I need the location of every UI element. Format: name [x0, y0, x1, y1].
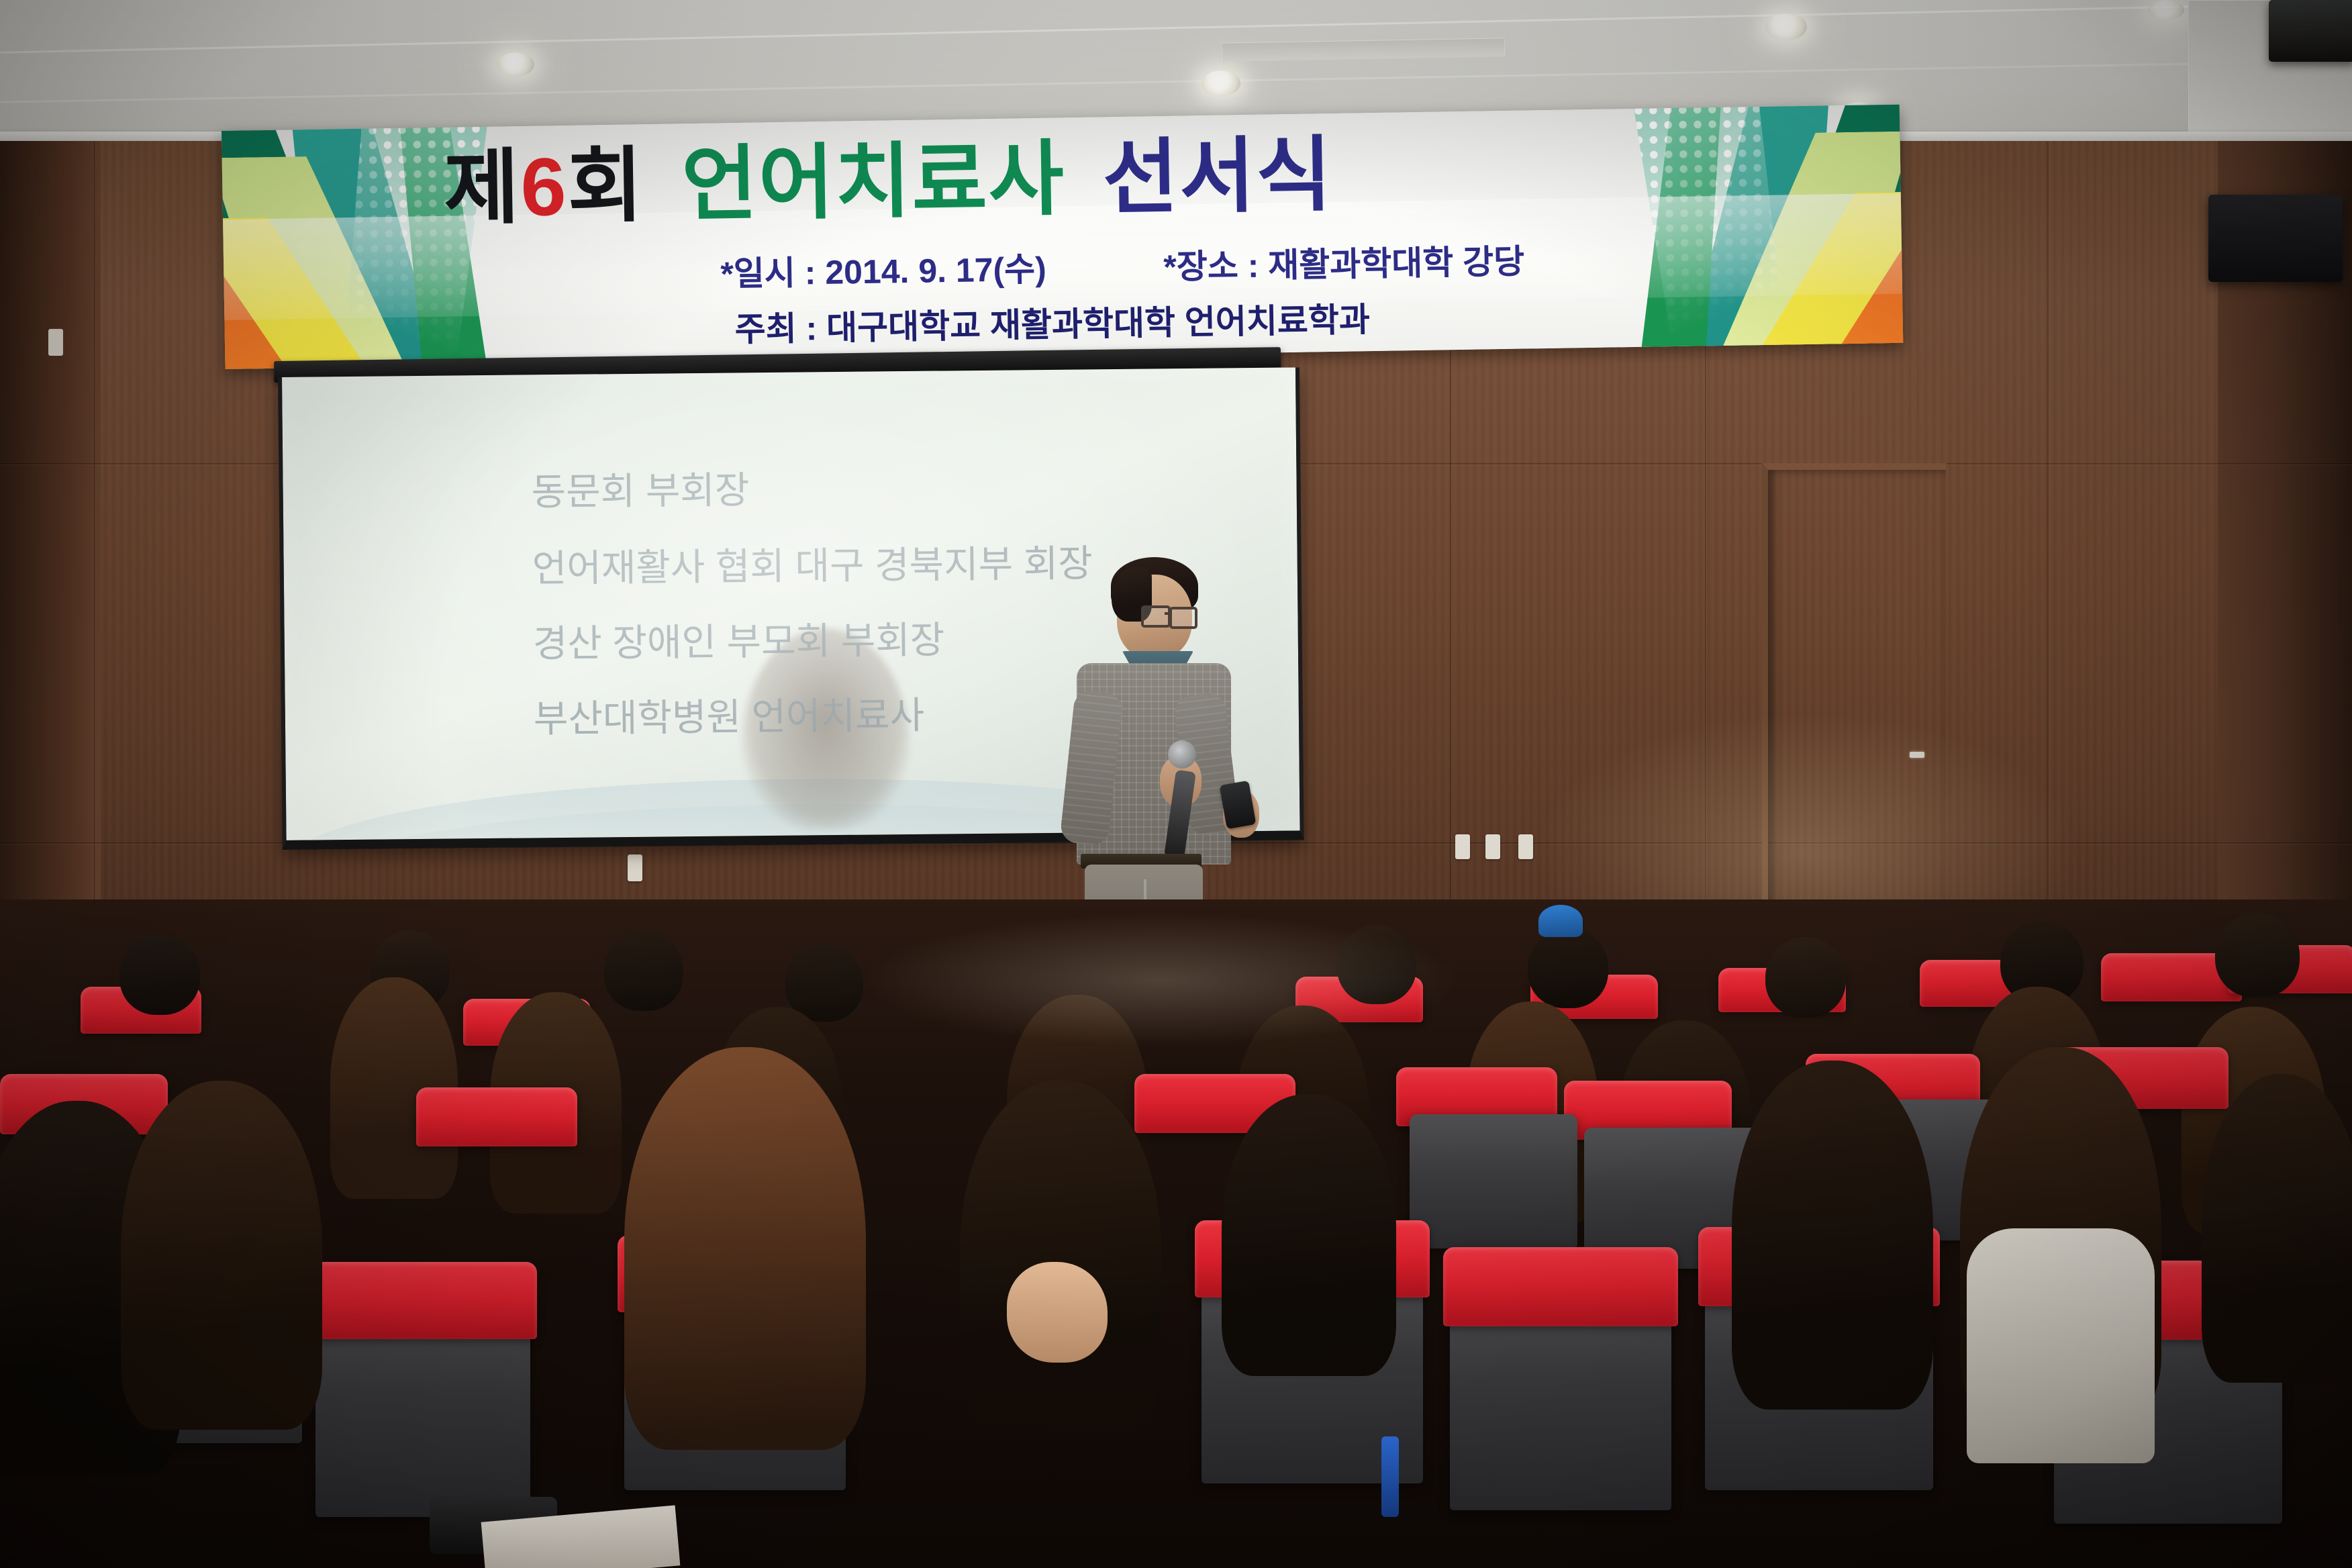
banner-title: 제6회언어치료사선서식 [443, 134, 1333, 230]
audience-foreground-head [121, 1081, 322, 1430]
audience-foreground-head [1222, 1094, 1396, 1376]
audience-head [1528, 928, 1608, 1008]
wall-plate-1[interactable] [1455, 834, 1470, 859]
audience-head [1765, 937, 1846, 1018]
audience-blue-pen [1381, 1436, 1399, 1517]
ceiling-projector [2269, 0, 2352, 62]
audience-foreground-head [624, 1047, 866, 1450]
wall-plate-4[interactable] [628, 854, 642, 881]
audience-white-top [1967, 1228, 2155, 1463]
banner-title-part-3: 회 [567, 140, 644, 232]
wall-left-shadow [0, 141, 101, 1027]
wall-switch-left[interactable] [48, 329, 63, 356]
banner-title-part-1: 제 [443, 142, 521, 234]
wall-seam-vertical [94, 141, 95, 1014]
wall-plate-2[interactable] [1485, 834, 1500, 859]
downlight-1 [497, 52, 534, 77]
seat-back[interactable] [1410, 1114, 1577, 1248]
audience-head [604, 932, 683, 1011]
audience-foreground-head [2202, 1074, 2352, 1383]
seat-top[interactable] [309, 1262, 537, 1339]
door-handle[interactable] [1910, 752, 1924, 758]
eyeglasses-left-lens [1141, 605, 1171, 628]
banner-host-line: 주최 : 대구대학교 재활과학대학 언어치료학과 [734, 293, 1370, 351]
wall-seam-vertical [2047, 141, 2049, 1014]
banner-date-line: *일시 : 2014. 9. 17(수) [720, 242, 1046, 296]
banner-title-part-4: 언어치료사 [681, 133, 1066, 230]
downlight-5 [2148, 0, 2184, 20]
audience-foreground-head [1732, 1061, 1933, 1410]
audience-head [119, 934, 200, 1015]
wall-plate-3[interactable] [1518, 834, 1533, 859]
downlight-2 [1202, 70, 1240, 96]
eyeglasses-right-lens [1169, 607, 1197, 629]
audience-raised-hand [1007, 1262, 1108, 1363]
microphone-head [1168, 740, 1196, 769]
eyeglasses-bridge [1165, 612, 1171, 615]
downlight-3 [1765, 13, 1807, 40]
audience-head [2215, 913, 2300, 997]
wall-speaker [2208, 195, 2343, 282]
seat-top[interactable] [416, 1087, 577, 1146]
audience-foreground-head [960, 1081, 1161, 1430]
event-banner: 제6회언어치료사선서식 *일시 : 2014. 9. 17(수) *장소 : 재… [222, 105, 1903, 369]
audience-head-cap [1538, 905, 1583, 937]
banner-place-line: *장소 : 재활과학대학 강당 [1163, 235, 1525, 289]
banner-title-part-2: 6 [520, 141, 569, 233]
stage-floor-light [859, 913, 1463, 1047]
side-door[interactable] [1762, 463, 1946, 973]
seat-top[interactable] [1443, 1247, 1678, 1326]
audience-head [785, 944, 863, 1022]
banner-title-part-5: 선서식 [1102, 129, 1334, 224]
auditorium-photo: 제6회언어치료사선서식 *일시 : 2014. 9. 17(수) *장소 : 재… [0, 0, 2352, 1568]
